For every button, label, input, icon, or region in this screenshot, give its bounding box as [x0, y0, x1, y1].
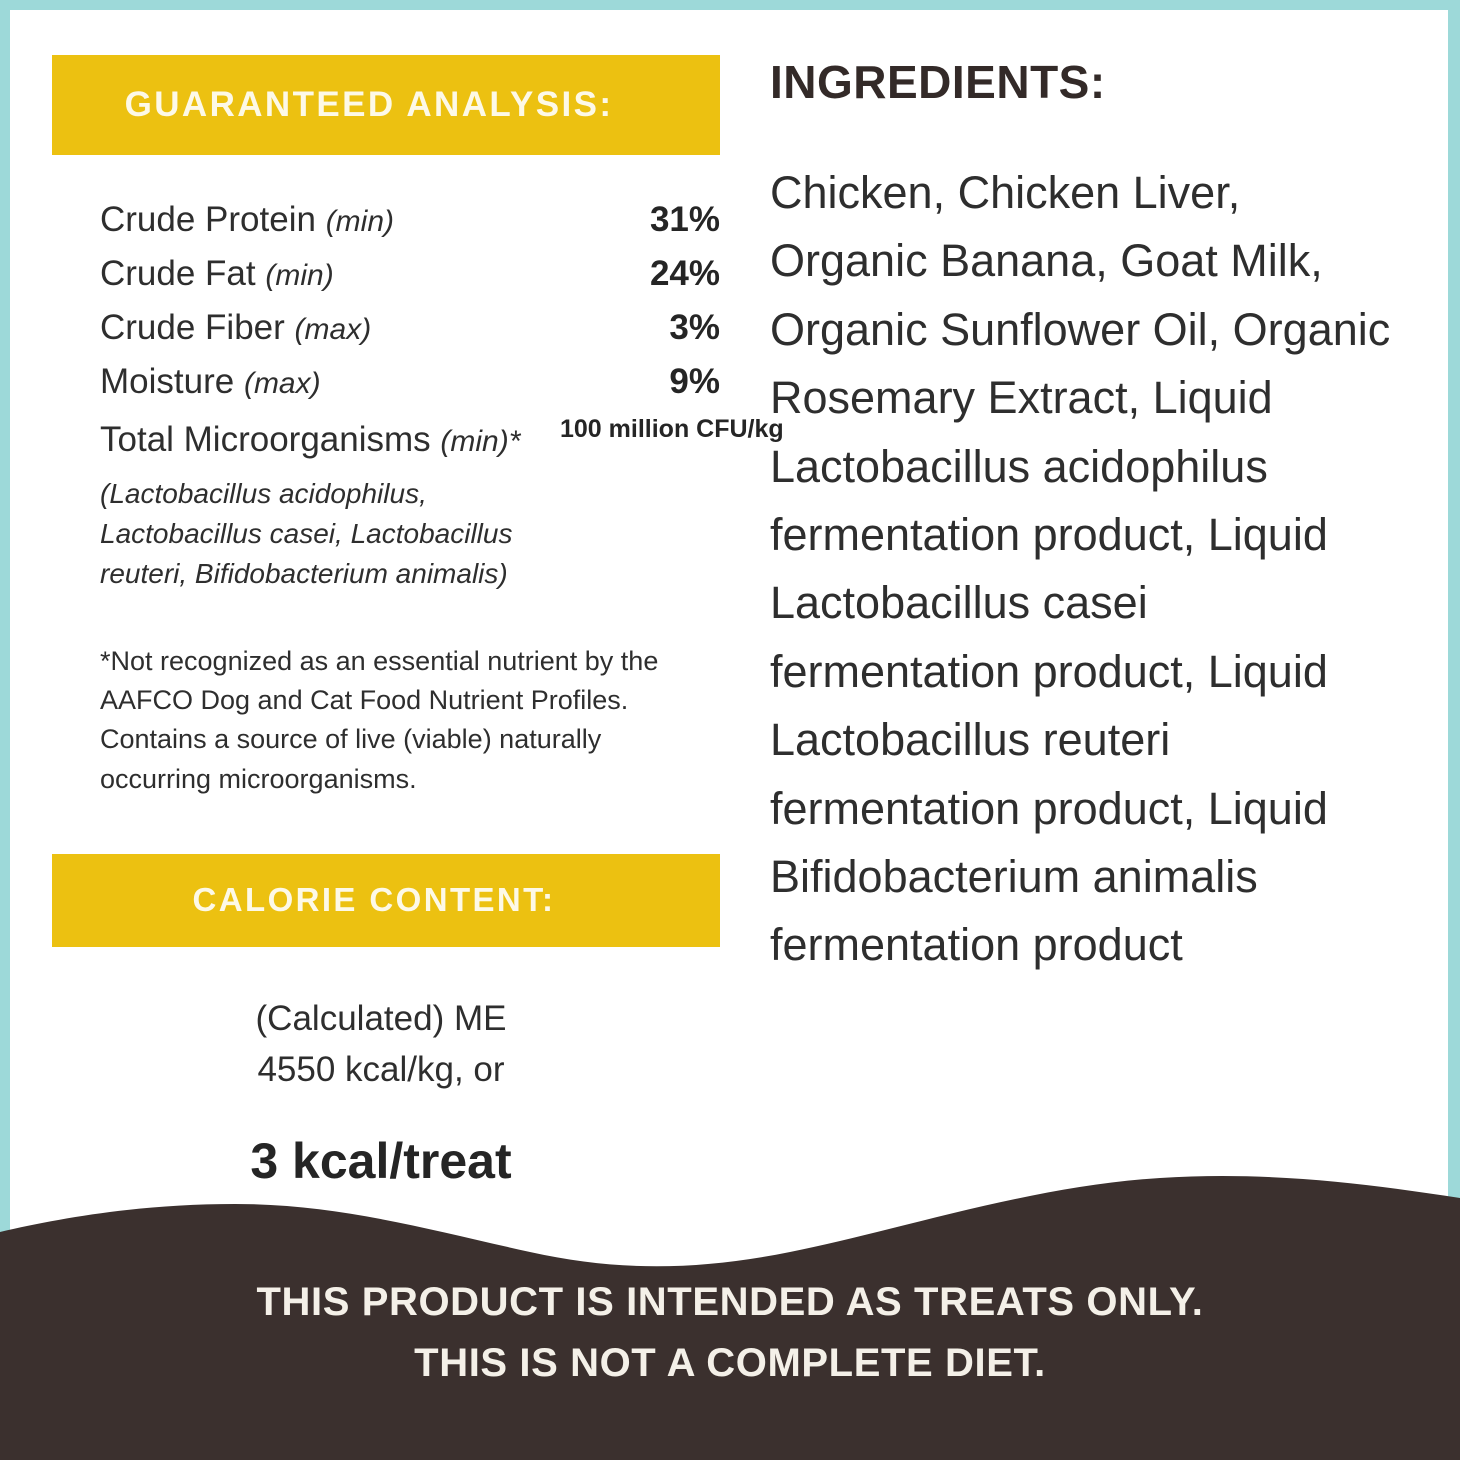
guaranteed-analysis-title: GUARANTEED ANALYSIS: [125, 85, 614, 125]
footer-text-block: THIS PRODUCT IS INTENDED AS TREATS ONLY.… [0, 1272, 1460, 1394]
calorie-content-banner: CALORIE CONTENT: [52, 854, 720, 947]
nutrient-name: Crude Protein [100, 200, 316, 239]
analysis-row: Crude Fiber (max) 3% [100, 308, 720, 348]
nutrient-qualifier: (min)* [440, 425, 520, 458]
nutrient-qualifier: (min) [265, 259, 333, 292]
analysis-label: Crude Fat (min) [100, 254, 334, 294]
ingredients-heading: INGREDIENTS: [770, 55, 1410, 109]
ingredients-list: Chicken, Chicken Liver, Organic Banana, … [770, 159, 1410, 980]
guaranteed-analysis-table: Crude Protein (min) 31% Crude Fat (min) … [52, 200, 720, 460]
ingredients-column: INGREDIENTS: Chicken, Chicken Liver, Org… [770, 55, 1410, 980]
footer-banner: THIS PRODUCT IS INTENDED AS TREATS ONLY.… [0, 1160, 1460, 1460]
calorie-content-section: CALORIE CONTENT: (Calculated) ME 4550 kc… [52, 854, 720, 1191]
calorie-per-kg-line: 4550 kcal/kg, or [52, 1044, 710, 1096]
left-column: GUARANTEED ANALYSIS: Crude Protein (min)… [52, 55, 720, 1190]
nutrient-name: Crude Fiber [100, 308, 285, 347]
nutrient-name: Moisture [100, 362, 234, 401]
analysis-row: Crude Protein (min) 31% [100, 200, 720, 240]
footer-line-2: THIS IS NOT A COMPLETE DIET. [0, 1333, 1460, 1394]
analysis-label: Crude Protein (min) [100, 200, 394, 240]
nutrient-value: 3% [669, 308, 720, 348]
nutrient-name: Total Microorganisms [100, 420, 431, 459]
footer-line-1: THIS PRODUCT IS INTENDED AS TREATS ONLY. [0, 1272, 1460, 1333]
culture-strain-list: (Lactobacillus acidophilus, Lactobacillu… [52, 474, 720, 594]
analysis-label: Crude Fiber (max) [100, 308, 371, 348]
nutrient-qualifier: (min) [326, 205, 394, 238]
analysis-row: Total Microorganisms (min)* 100 million … [100, 416, 720, 460]
nutrient-value: 9% [669, 362, 720, 402]
aafco-footnote: *Not recognized as an essential nutrient… [52, 642, 720, 799]
calorie-content-title: CALORIE CONTENT: [193, 881, 556, 919]
analysis-label: Total Microorganisms (min)* [100, 416, 520, 460]
analysis-row: Crude Fat (min) 24% [100, 254, 720, 294]
nutrient-qualifier: (max) [295, 313, 372, 346]
pet-food-label-card: GUARANTEED ANALYSIS: Crude Protein (min)… [0, 0, 1460, 1460]
analysis-label: Moisture (max) [100, 362, 321, 402]
analysis-row: Moisture (max) 9% [100, 362, 720, 402]
nutrient-qualifier: (max) [244, 367, 321, 400]
nutrient-value: 100 million CFU/kg [560, 416, 720, 442]
guaranteed-analysis-banner: GUARANTEED ANALYSIS: [52, 55, 720, 155]
nutrient-value: 24% [650, 254, 720, 294]
calorie-method-line: (Calculated) ME [52, 993, 710, 1045]
nutrient-name: Crude Fat [100, 254, 256, 293]
nutrient-value: 31% [650, 200, 720, 240]
